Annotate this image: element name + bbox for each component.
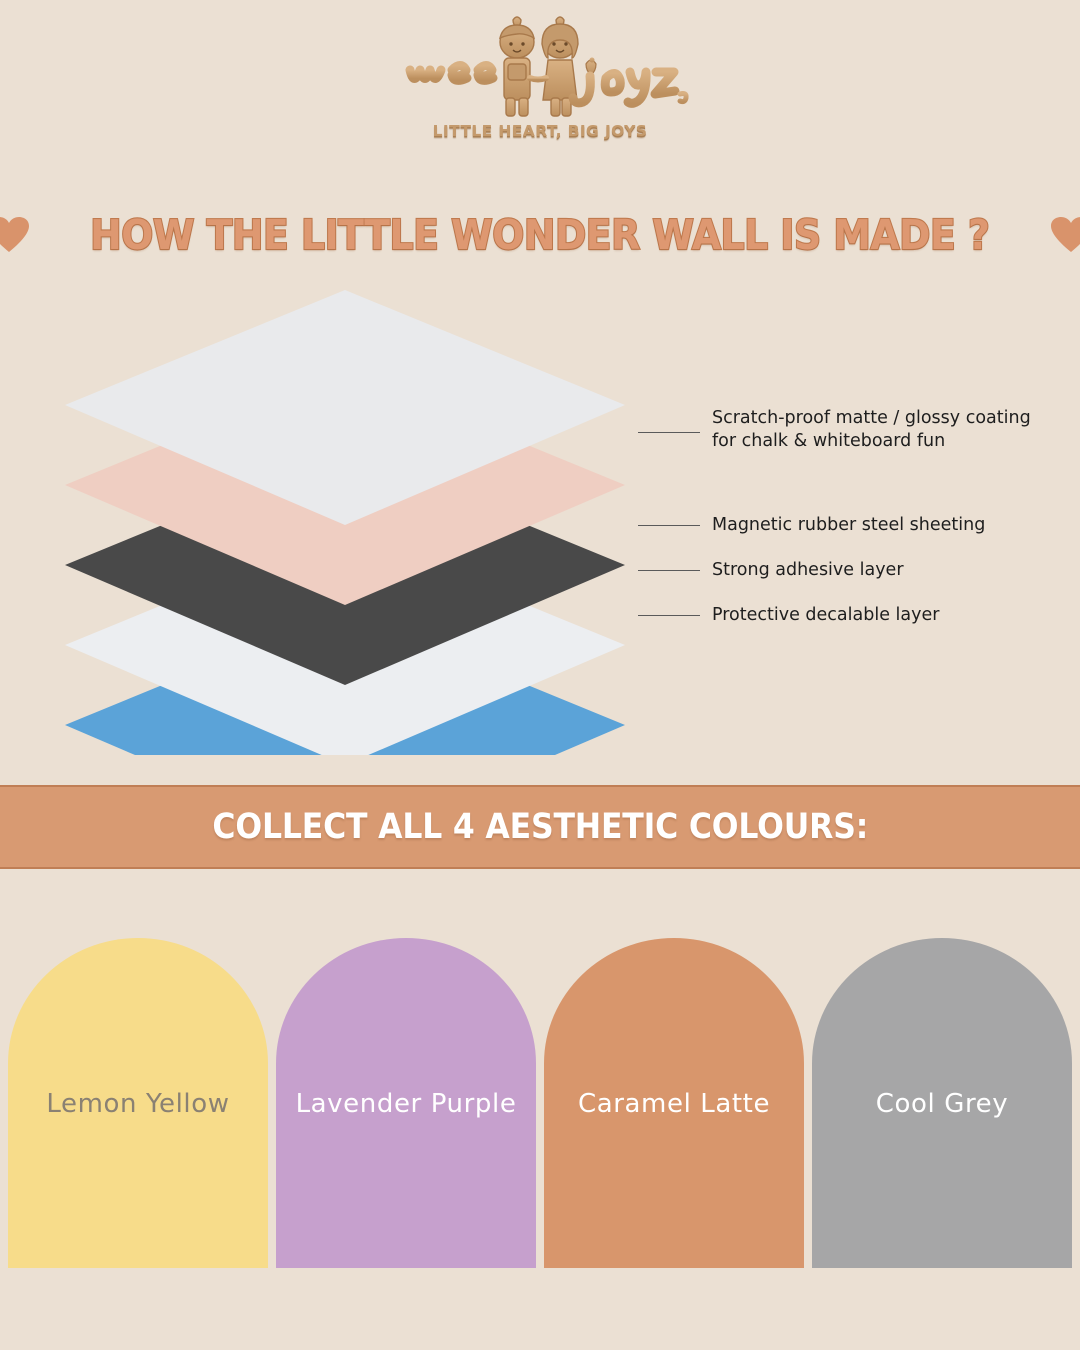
leader-line-adhesive — [638, 570, 700, 571]
colour-swatch-label: Lavender Purple — [296, 1089, 517, 1119]
callout-label-magnetic: Magnetic rubber steel sheeting — [712, 514, 985, 537]
colour-swatch-label: Lemon Yellow — [46, 1089, 229, 1119]
colour-swatch-label: Caramel Latte — [578, 1089, 770, 1119]
heart-icon — [1051, 217, 1080, 253]
colour-swatch-label: Cool Grey — [876, 1089, 1009, 1119]
callout-label-adhesive: Strong adhesive layer — [712, 559, 904, 582]
heart-icon — [0, 217, 29, 253]
logo-flourish-icon — [680, 94, 686, 102]
colour-swatch-lavender-purple[interactable]: Lavender Purple — [276, 938, 536, 1268]
colour-swatch-row: Lemon Yellow Lavender Purple Caramel Lat… — [0, 938, 1080, 1268]
callout-label-coating: Scratch-proof matte / glossy coating for… — [712, 407, 1080, 453]
leader-line-coating — [638, 432, 700, 433]
page-title: HOW THE LITTLE WONDER WALL IS MADE ? — [90, 211, 989, 259]
logo-word-wee — [410, 66, 493, 81]
leader-line-magnetic — [638, 525, 700, 526]
banner-title: COLLECT ALL 4 AESTHETIC COLOURS: — [212, 807, 868, 847]
colour-swatch-lemon-yellow[interactable]: Lemon Yellow — [8, 938, 268, 1268]
page-title-row: HOW THE LITTLE WONDER WALL IS MADE ? — [0, 205, 1080, 265]
logo-illustration — [390, 8, 690, 126]
logo-graphic — [390, 8, 690, 126]
layer-diagram: Scratch-proof matte / glossy coating for… — [0, 285, 1080, 775]
leader-line-protective — [638, 615, 700, 616]
brand-logo: LITTLE HEART, BIG JOYS — [0, 8, 1080, 168]
callout-group: Scratch-proof matte / glossy coating for… — [0, 285, 1080, 775]
boy-figure-icon — [500, 17, 534, 116]
collect-colours-banner: COLLECT ALL 4 AESTHETIC COLOURS: — [0, 785, 1080, 869]
callout-label-protective: Protective decalable layer — [712, 604, 939, 627]
colour-swatch-cool-grey[interactable]: Cool Grey — [812, 938, 1072, 1268]
colour-swatch-caramel-latte[interactable]: Caramel Latte — [544, 938, 804, 1268]
joined-hands-icon — [530, 78, 546, 80]
